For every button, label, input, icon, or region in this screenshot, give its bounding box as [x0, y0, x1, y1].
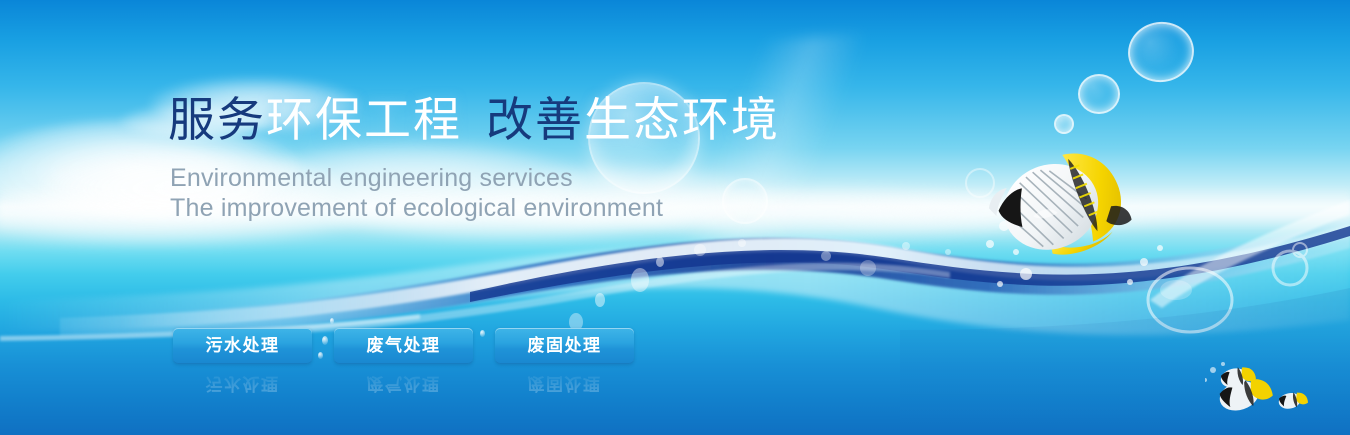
nav-button-waste-gas-label: 废气处理 [367, 336, 441, 355]
nav-button-solid-waste-label: 废固处理 [528, 336, 602, 355]
hero-banner: 服务环保工程改善生态环境 Environmental engineering s… [0, 0, 1350, 435]
service-nav-buttons: 污水处理 污水处理 废气处理 废气处理 废固处理 废固处理 [173, 328, 634, 364]
headline-segment-2-light: 生态环境 [584, 93, 780, 146]
headline: 服务环保工程改善生态环境 [168, 96, 780, 143]
subtitle-line-1: Environmental engineering services [170, 162, 573, 195]
headline-segment-2-dark: 改善 [486, 93, 584, 146]
headline-segment-1-dark: 服务 [168, 93, 266, 146]
headline-segment-1-light: 环保工程 [266, 93, 462, 146]
nav-button-wastewater-label: 污水处理 [206, 336, 280, 355]
nav-button-waste-gas[interactable]: 废气处理 废气处理 [334, 328, 473, 364]
nav-button-solid-waste[interactable]: 废固处理 废固处理 [495, 328, 634, 364]
nav-button-wastewater[interactable]: 污水处理 污水处理 [173, 328, 312, 364]
subtitle-line-2: The improvement of ecological environmen… [170, 192, 663, 225]
